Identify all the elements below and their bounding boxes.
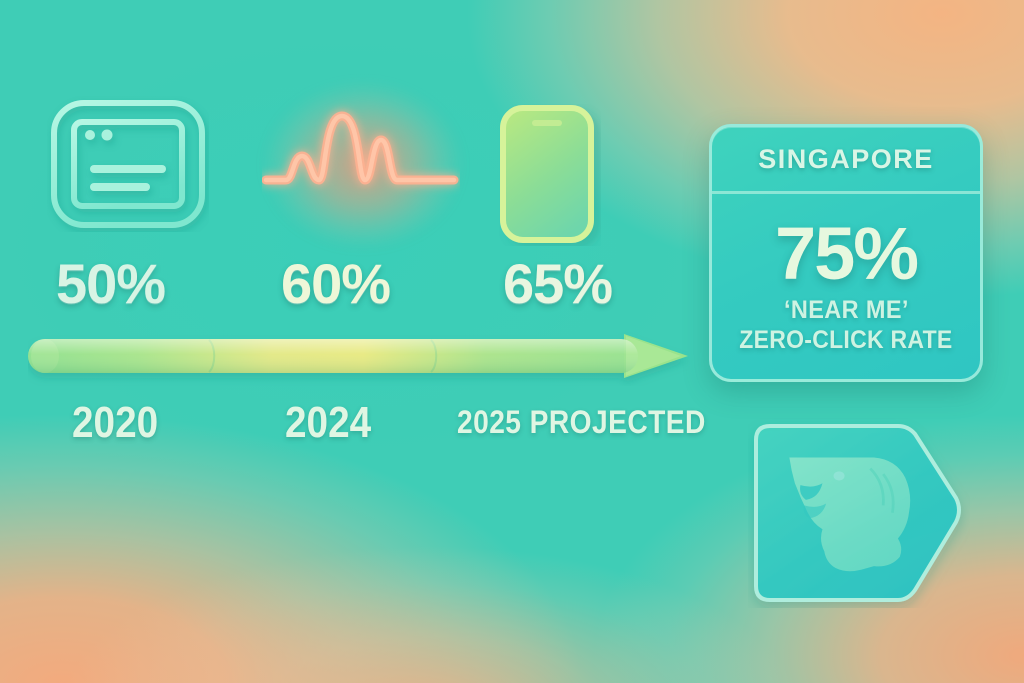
voice-waveform-icon xyxy=(262,96,460,220)
stat-card-body: 75% ‘NEAR ME’ ZERO-CLICK RATE xyxy=(712,194,980,378)
milestone-percent-2025: 65% xyxy=(503,251,612,316)
progress-arrow xyxy=(28,330,690,386)
timeline-label-2024: 2024 xyxy=(285,398,371,448)
timeline-label-2025: 2025 PROJECTED xyxy=(457,404,706,441)
stat-card-header: SINGAPORE xyxy=(712,127,980,194)
infographic-canvas: 50% 60% 65% xyxy=(0,0,1024,683)
stat-card-value: 75% xyxy=(775,219,917,289)
browser-window-icon xyxy=(47,96,209,232)
milestone-percent-2020: 50% xyxy=(56,251,165,316)
timeline-label-2020: 2020 xyxy=(72,398,158,448)
milestone-percent-2024: 60% xyxy=(281,251,390,316)
singapore-stat-card: SINGAPORE 75% ‘NEAR ME’ ZERO-CLICK RATE xyxy=(709,124,983,382)
merlion-badge xyxy=(748,418,970,608)
stat-card-header-label: SINGAPORE xyxy=(758,144,934,175)
stat-card-caption-line2: ZERO-CLICK RATE xyxy=(739,326,952,355)
smartphone-icon xyxy=(499,104,601,246)
stat-card-caption-line1: ‘NEAR ME’ xyxy=(784,296,909,325)
